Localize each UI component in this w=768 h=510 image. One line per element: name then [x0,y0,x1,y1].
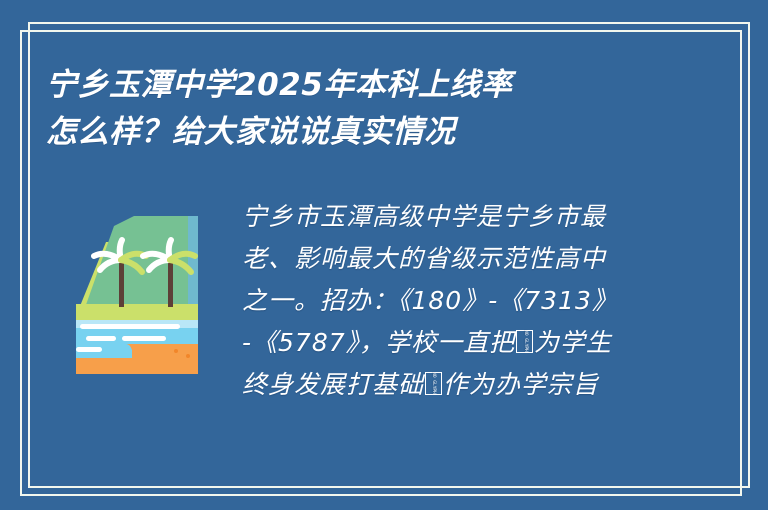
foam-line-1 [80,324,180,329]
content-row: 宁乡市玉潭高级中学是宁乡市最 老、影响最大的省级示范性高中 之一。招办：《180… [46,196,722,406]
page-title: 宁乡玉潭中学2025年本科上线率 怎么样？给大家说说真实情况 [46,62,686,156]
body-line: 宁乡市玉潭高级中学是宁乡市最 [242,196,722,238]
body-text-segment: -《5787》，学校一直把 [242,328,515,357]
grass-strip [76,304,198,320]
body-line: 之一。招办：《180》-《7313》 [242,280,722,322]
sand-lower [76,358,198,374]
foam-line-2 [86,336,116,341]
foam-line-3 [122,336,166,341]
poster-canvas: 宁乡玉潭中学2025年本科上线率 怎么样？给大家说说真实情况 [0,0,768,510]
sand-dot-2 [186,354,190,358]
body-text-segment: 作为办学宗旨 [443,370,599,399]
no-glyph-box [516,330,533,353]
palm-trunk-left [119,259,124,307]
body-line: -《5787》，学校一直把为学生 [242,322,722,364]
beach-island-icon [76,204,208,374]
body-text-block: 宁乡市玉潭高级中学是宁乡市最 老、影响最大的省级示范性高中 之一。招办：《180… [242,196,722,406]
body-text-segment: 终身发展打基础 [242,370,424,399]
body-line: 终身发展打基础作为办学宗旨 [242,364,722,406]
no-glyph-box [425,372,442,395]
sand-dot-1 [174,349,178,353]
body-line: 老、影响最大的省级示范性高中 [242,238,722,280]
beach-island-illustration [76,204,208,374]
foam-line-4 [76,347,102,352]
title-line-2: 怎么样？给大家说说真实情况 [46,109,686,156]
title-line-1: 宁乡玉潭中学2025年本科上线率 [46,62,686,109]
palm-trunk-right [168,259,173,307]
